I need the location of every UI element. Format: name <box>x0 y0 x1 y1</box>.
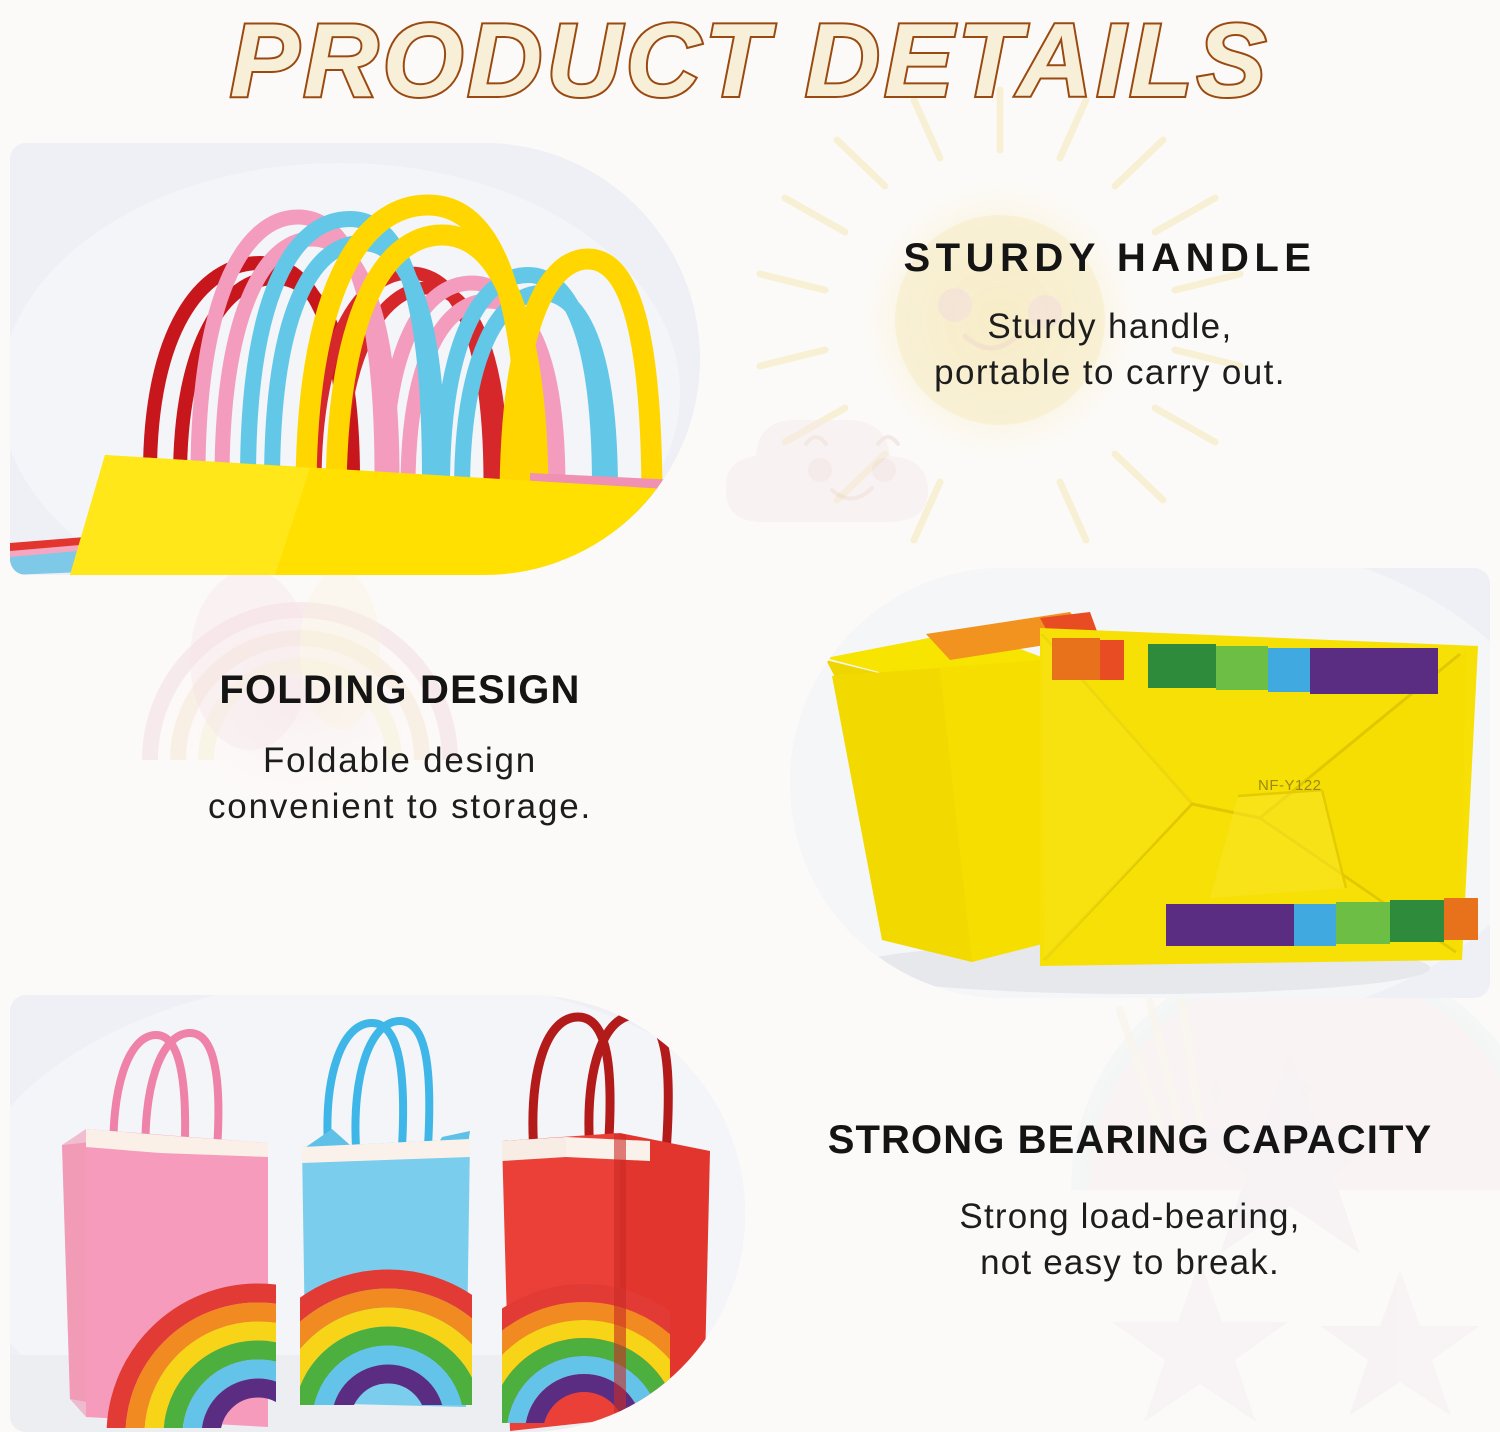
folded-yellow-bag-photo: NF-Y122 <box>790 568 1490 998</box>
strong-bearing-heading: STRONG BEARING CAPACITY <box>770 1118 1490 1162</box>
page-title: PRODUCT DETAILS <box>0 0 1500 130</box>
sturdy-handle-body: Sturdy handle, portable to carry out. <box>820 304 1400 396</box>
sturdy-handle-text-block: STURDY HANDLE Sturdy handle, portable to… <box>820 236 1400 396</box>
strong-bearing-body: Strong load-bearing, not easy to break. <box>770 1194 1490 1286</box>
folding-design-body-line2: convenient to storage. <box>110 784 690 830</box>
folding-design-body: Foldable design convenient to storage. <box>110 738 690 830</box>
bottom-rainbow-stripes <box>1166 898 1478 946</box>
three-rainbow-bags-photo <box>10 995 745 1432</box>
strong-bearing-photo-panel <box>10 995 745 1432</box>
folding-design-photo-panel: NF-Y122 <box>790 568 1490 998</box>
sturdy-handle-body-line1: Sturdy handle, <box>820 304 1400 350</box>
strong-bearing-body-line2: not easy to break. <box>770 1240 1490 1286</box>
cloud-face-watermark <box>726 420 929 522</box>
folding-design-body-line1: Foldable design <box>110 738 690 784</box>
folding-design-text-block: FOLDING DESIGN Foldable design convenien… <box>110 668 690 830</box>
strong-bearing-body-line1: Strong load-bearing, <box>770 1194 1490 1240</box>
sturdy-handle-heading: STURDY HANDLE <box>820 236 1400 280</box>
page-title-graphic: PRODUCT DETAILS <box>120 6 1380 124</box>
strong-bearing-text-block: STRONG BEARING CAPACITY Strong load-bear… <box>770 1118 1490 1286</box>
sturdy-handle-body-line2: portable to carry out. <box>820 350 1400 396</box>
folding-design-heading: FOLDING DESIGN <box>110 668 690 712</box>
product-code-label: NF-Y122 <box>1258 777 1322 794</box>
sturdy-handle-photo-panel <box>10 143 700 575</box>
twisted-paper-handles-photo <box>10 143 700 575</box>
page-title-label: PRODUCT DETAILS <box>230 6 1270 119</box>
